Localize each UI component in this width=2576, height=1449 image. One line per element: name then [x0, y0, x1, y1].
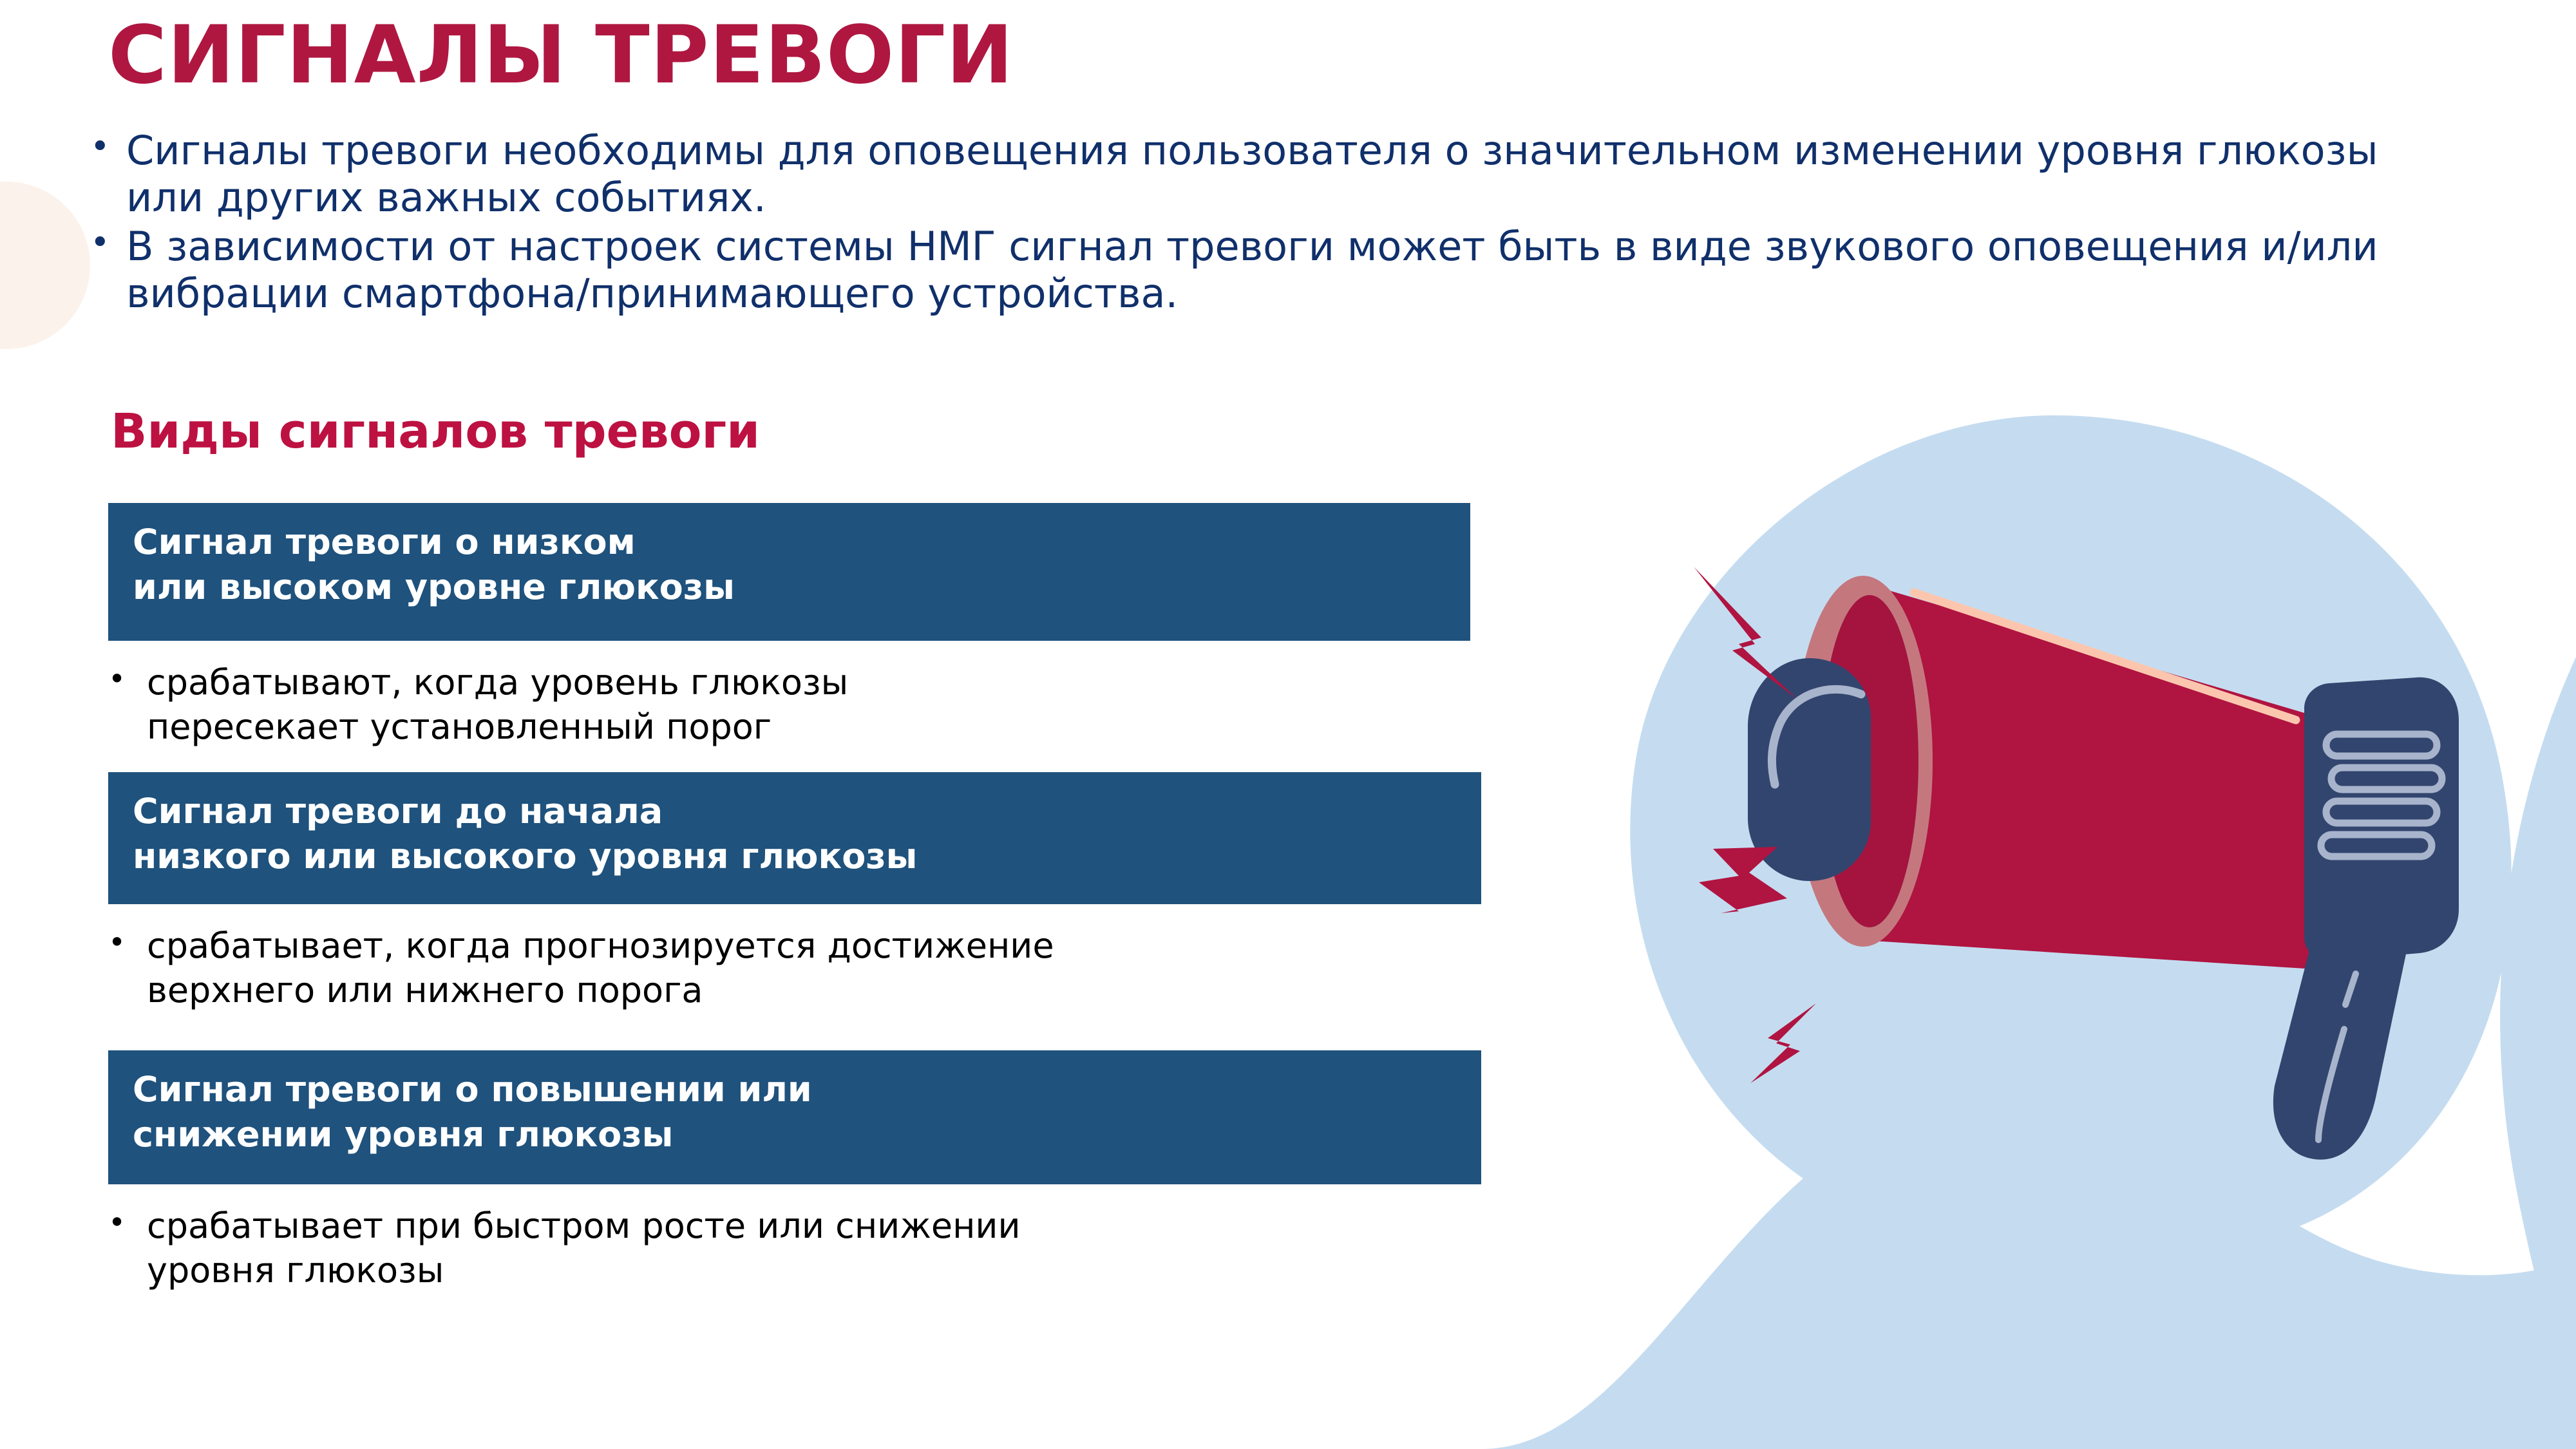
- right-edge-decoration: [2500, 657, 2576, 1417]
- megaphone-grille: [2321, 734, 2442, 857]
- megaphone-body: [2304, 677, 2459, 961]
- alarm-type-3-description: • срабатывает при быстром росте или сниж…: [108, 1204, 1481, 1293]
- intro-bullet-2: • В зависимости от настроек системы НМГ …: [90, 223, 2409, 317]
- bullet-marker-icon: •: [108, 660, 147, 698]
- sound-bolt-1: [1694, 567, 1797, 699]
- bullet-marker-icon: •: [108, 1204, 147, 1242]
- speaker-knob: [1748, 658, 1871, 881]
- alarm-type-block-3: Сигнал тревоги о повышении или снижении …: [108, 1050, 1481, 1293]
- alarm-type-1-desc-line-2: пересекает установленный порог: [147, 705, 1470, 749]
- cone-highlight-tip: [2309, 724, 2331, 732]
- alarm-type-3-header-line-1: Сигнал тревоги о повышении или: [133, 1067, 1457, 1112]
- alarm-type-3-desc-line-2: уровня глюкозы: [147, 1248, 1481, 1293]
- alarm-type-3-header-line-2: снижении уровня глюкозы: [133, 1112, 1457, 1157]
- handle-highlight-upper: [2345, 974, 2356, 1005]
- alarm-type-3-desc-line-1: срабатывает при быстром росте или снижен…: [147, 1204, 1481, 1248]
- slide-canvas: СИГНАЛЫ ТРЕВОГИ • Сигналы тревоги необхо…: [0, 0, 2576, 1449]
- alarm-type-3-description-text: срабатывает при быстром росте или снижен…: [147, 1204, 1481, 1293]
- page-title: СИГНАЛЫ ТРЕВОГИ: [108, 12, 1014, 99]
- alarm-type-2-description: • срабатывает, когда прогнозируется дост…: [108, 923, 1481, 1012]
- alarm-type-2-header-line-1: Сигнал тревоги до начала: [133, 789, 1457, 834]
- grille-slot-2: [2331, 768, 2442, 790]
- alarm-type-1-header-line-1: Сигнал тревоги о низком: [133, 520, 1446, 565]
- background-blob: [1630, 415, 2511, 1265]
- bullet-marker-icon: •: [90, 128, 126, 167]
- bullet-marker-icon: •: [108, 923, 147, 961]
- alarm-type-1-desc-line-1: срабатывают, когда уровень глюкозы: [147, 660, 1470, 705]
- grille-slot-4: [2321, 835, 2432, 857]
- intro-bullet-1-text: Сигналы тревоги необходимы для оповещени…: [126, 128, 2409, 221]
- alarm-type-2-description-text: срабатывает, когда прогнозируется достиж…: [147, 923, 1481, 1012]
- cream-circle-decoration: [0, 182, 90, 349]
- megaphone-mouth-inner: [1821, 595, 1918, 927]
- intro-bullet-2-text: В зависимости от настроек системы НМГ си…: [126, 223, 2409, 317]
- grille-slot-3: [2326, 801, 2437, 823]
- alarm-type-2-desc-line-2: верхнего или нижнего порога: [147, 968, 1481, 1012]
- grille-slot-1: [2326, 734, 2437, 756]
- alarm-type-3-header: Сигнал тревоги о повышении или снижении …: [108, 1050, 1481, 1184]
- alarm-type-1-header: Сигнал тревоги о низком или высоком уров…: [108, 503, 1470, 641]
- alarm-type-block-2: Сигнал тревоги до начала низкого или выс…: [108, 772, 1481, 1012]
- intro-bullet-list: • Сигналы тревоги необходимы для оповеще…: [90, 128, 2409, 319]
- bullet-marker-icon: •: [90, 223, 126, 263]
- speaker-knob-highlight: [1772, 689, 1861, 784]
- bottom-wave-decoration: [1481, 1092, 2576, 1449]
- intro-bullet-1: • Сигналы тревоги необходимы для оповеще…: [90, 128, 2409, 221]
- alarm-type-2-header: Сигнал тревоги до начала низкого или выс…: [108, 772, 1481, 904]
- section-heading: Виды сигналов тревоги: [111, 406, 760, 458]
- megaphone-cone: [1863, 583, 2315, 969]
- megaphone-rim: [1794, 576, 1933, 947]
- alarm-type-2-header-line-2: низкого или высокого уровня глюкозы: [133, 834, 1457, 879]
- megaphone-handle: [2273, 935, 2407, 1160]
- handle-highlight-lower: [2318, 1029, 2344, 1140]
- cone-highlight-streak: [1914, 592, 2296, 720]
- alarm-type-1-description: • срабатывают, когда уровень глюкозы пер…: [108, 660, 1470, 749]
- alarm-type-1-header-line-2: или высоком уровне глюкозы: [133, 565, 1446, 610]
- sound-bolt-2: [1699, 847, 1787, 913]
- alarm-type-block-1: Сигнал тревоги о низком или высоком уров…: [108, 503, 1470, 749]
- alarm-type-1-description-text: срабатывают, когда уровень глюкозы перес…: [147, 660, 1470, 749]
- sound-bolt-3: [1750, 1003, 1816, 1083]
- alarm-type-2-desc-line-1: срабатывает, когда прогнозируется достиж…: [147, 923, 1481, 968]
